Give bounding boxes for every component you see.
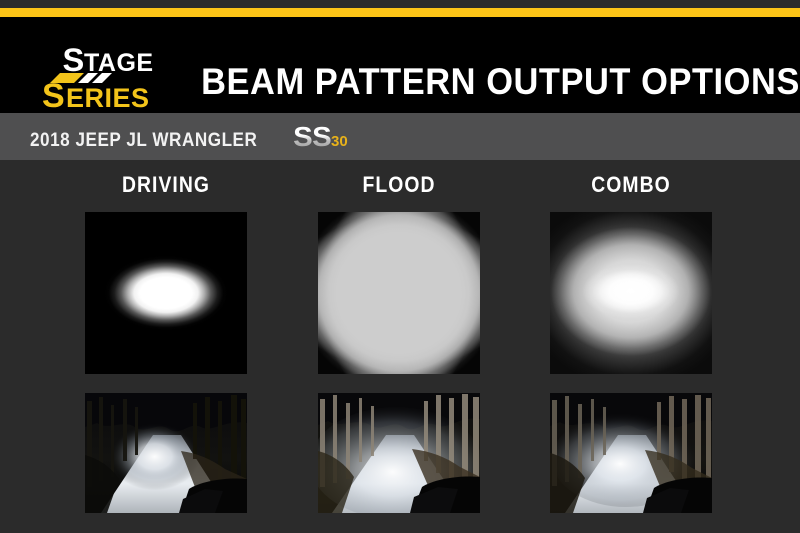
column-label-flood: FLOOD: [328, 172, 471, 198]
svg-text:S: S: [62, 42, 83, 78]
column-label-driving: DRIVING: [95, 172, 238, 198]
model-prefix: SS: [293, 121, 331, 153]
flood-night-road-photo: [318, 393, 480, 513]
driving-beam-pattern: [85, 212, 247, 374]
flood-beam-gradient: [318, 212, 480, 374]
svg-text:ERIES: ERIES: [66, 83, 150, 113]
combo-beam-pattern: [550, 212, 712, 374]
top-accent-rule: [0, 8, 800, 17]
stage-series-logo: S TAGE S ERIES: [38, 37, 218, 115]
svg-text:S: S: [42, 77, 64, 115]
column-labels: DRIVING FLOOD COMBO: [0, 172, 800, 198]
bottom-padding: [0, 513, 800, 533]
vehicle-name: 2018 JEEP JL WRANGLER: [30, 130, 257, 152]
svg-text:TAGE: TAGE: [84, 49, 154, 77]
model-number: 30: [331, 133, 348, 150]
combo-night-road-photo: [550, 393, 712, 513]
flood-beam-pattern: [318, 212, 480, 374]
product-model: SS 30: [294, 121, 348, 153]
header-bar: S TAGE S ERIES BEAM PATTERN OUTPUT OPTIO…: [0, 17, 800, 113]
vehicle-subtitle-bar: 2018 JEEP JL WRANGLER SS 30: [0, 113, 800, 160]
driving-night-road-photo: [85, 393, 247, 513]
column-label-combo: COMBO: [560, 172, 703, 198]
combo-beam-gradient: [550, 212, 712, 374]
driving-beam-gradient: [85, 212, 247, 374]
beam-pattern-infographic: S TAGE S ERIES BEAM PATTERN OUTPUT OPTIO…: [0, 0, 800, 533]
